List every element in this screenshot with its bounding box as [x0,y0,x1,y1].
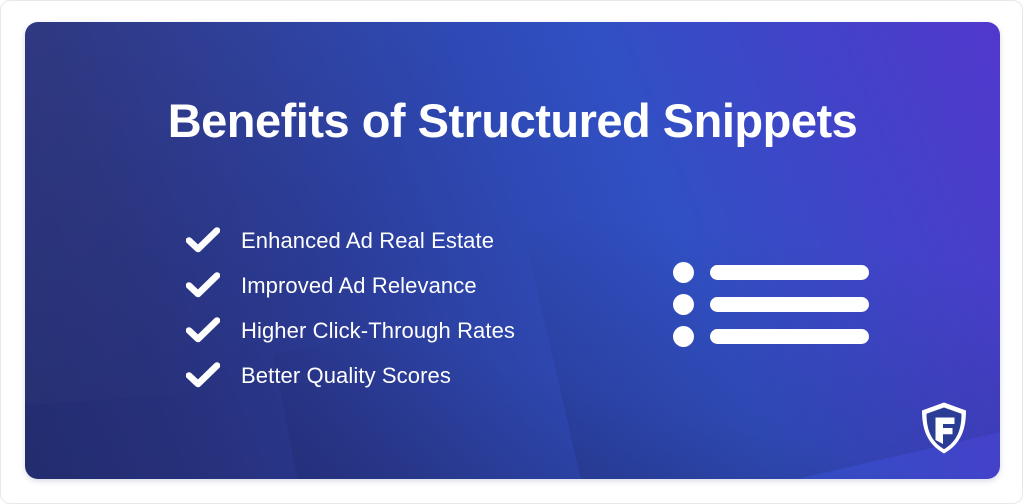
bullet-row [673,288,873,320]
bullet-bar [710,265,869,280]
bullet-row [673,256,873,288]
bullet-dot-icon [673,326,694,347]
list-item: Enhanced Ad Real Estate [186,218,606,263]
page-title: Benefits of Structured Snippets [25,95,1000,147]
list-item: Improved Ad Relevance [186,263,606,308]
bulleted-list-icon [673,256,873,352]
list-item-label: Higher Click-Through Rates [241,318,515,344]
check-icon [186,362,220,390]
page-frame: Benefits of Structured Snippets Enhanced… [0,0,1023,504]
bullet-bar [710,297,869,312]
list-item-label: Improved Ad Relevance [241,273,477,299]
list-item: Higher Click-Through Rates [186,308,606,353]
banner-card: Benefits of Structured Snippets Enhanced… [25,22,1000,479]
bullet-bar [710,329,869,344]
check-icon [186,317,220,345]
list-item-label: Better Quality Scores [241,363,451,389]
list-item: Better Quality Scores [186,353,606,398]
bullet-row [673,320,873,352]
shield-f-logo [919,401,969,455]
check-icon [186,227,220,255]
benefits-list: Enhanced Ad Real Estate Improved Ad Rele… [186,218,606,398]
bullet-dot-icon [673,294,694,315]
bullet-dot-icon [673,262,694,283]
list-item-label: Enhanced Ad Real Estate [241,228,494,254]
check-icon [186,272,220,300]
